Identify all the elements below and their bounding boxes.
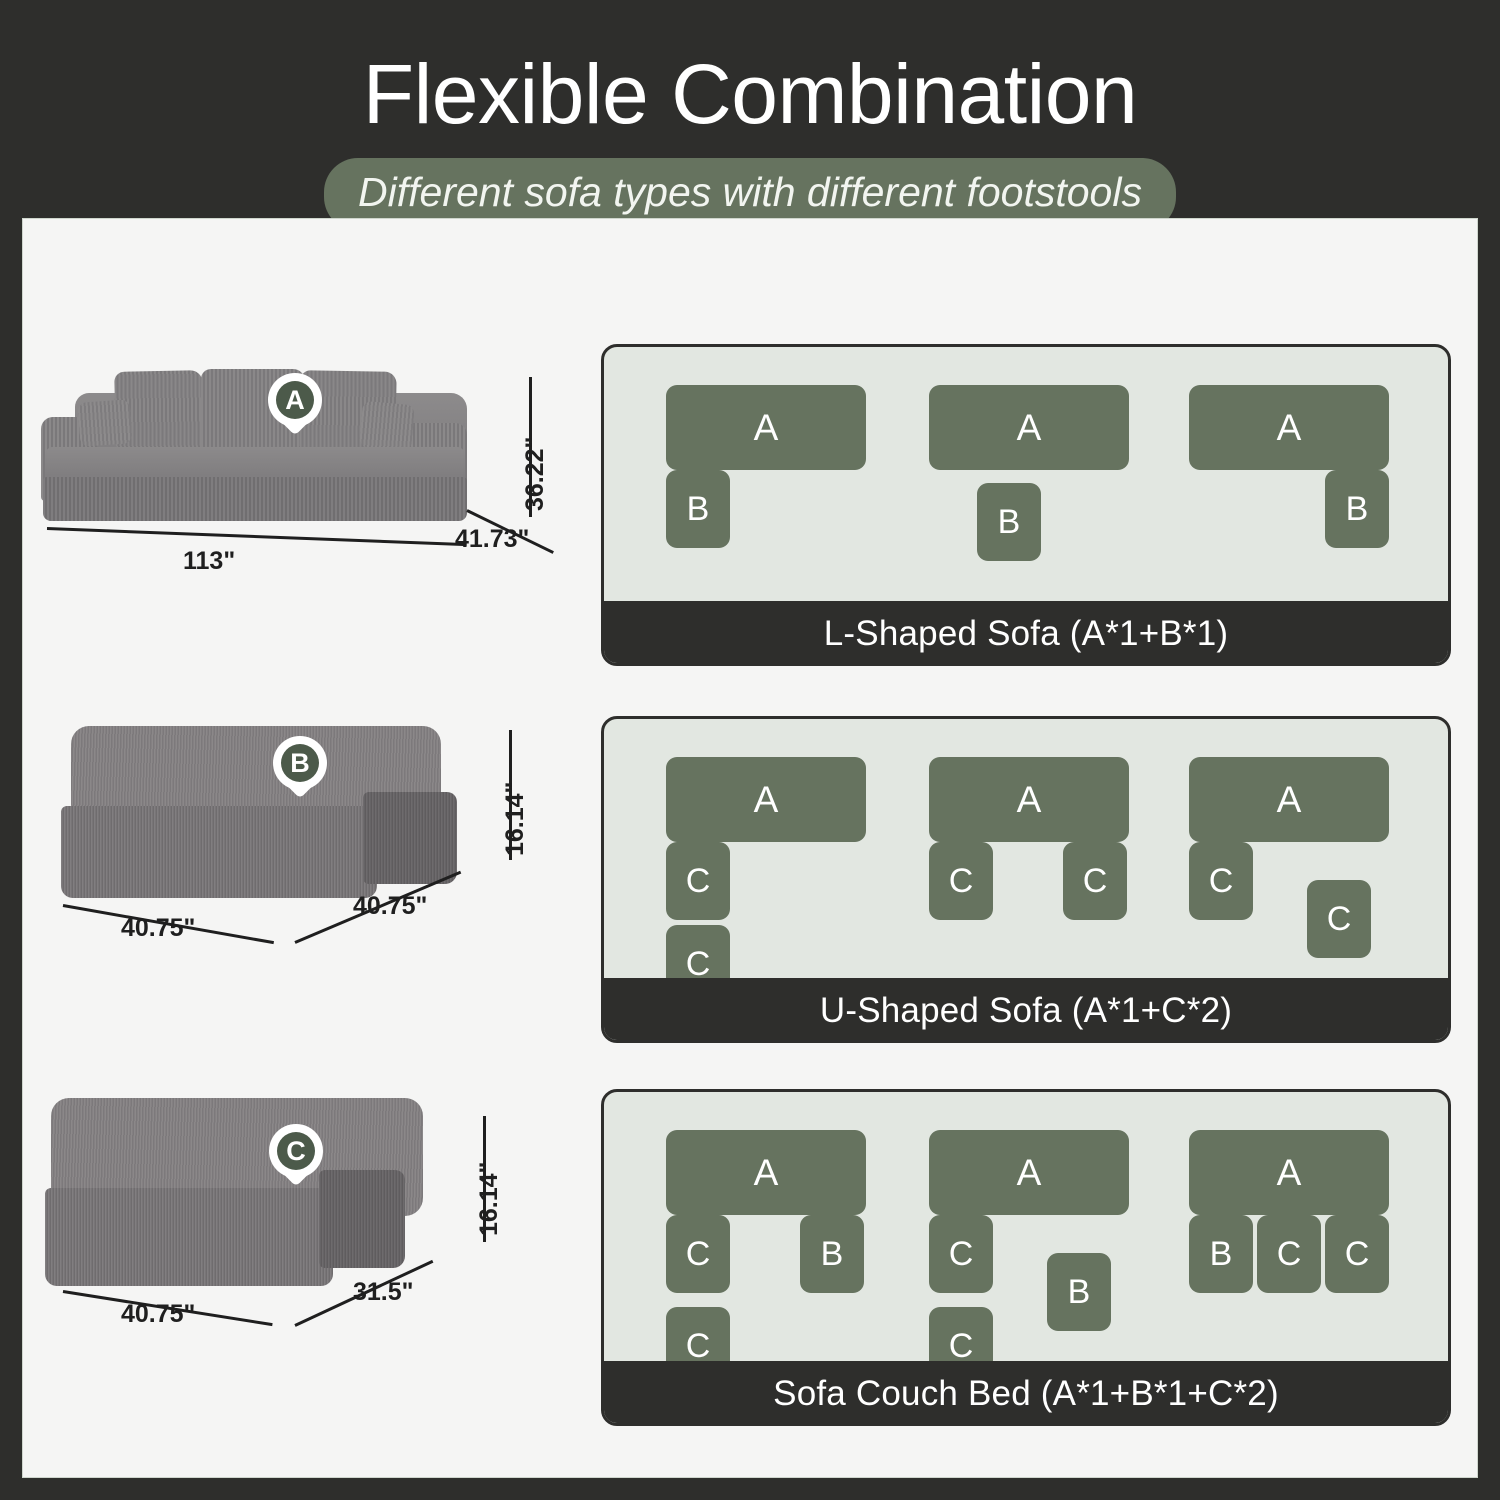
product-illustration-column: A 113" 41.73" 36.22" [23,219,601,1479]
content-card: A 113" 41.73" 36.22" [22,218,1478,1478]
block-c: C [666,1215,730,1293]
config-1: AB [666,347,936,601]
block-b: B [666,470,730,548]
sofa-throw-pillow-left [78,399,133,447]
config-2: ACCB [929,1092,1199,1361]
marker-pin-b: B [273,736,327,806]
panel-label-u-shaped: U-Shaped Sofa (A*1+C*2) [601,978,1451,1043]
panel-sofa-couch-bed: ACCB ACCB ABCC Sofa Couch Bed (A*1+B*1+C… [601,1089,1451,1426]
panel-body: ACCB ACCB ABCC [604,1092,1448,1361]
block-a: A [929,1130,1129,1215]
block-a: A [666,1130,866,1215]
block-b: B [1047,1253,1111,1331]
dim-label-depth-b: 40.75" [353,892,427,921]
product-footstool-c: C 40.75" 31.5" 16.14" [23,1084,601,1334]
footstool-c-side [319,1170,405,1268]
panel-label-l-shaped: L-Shaped Sofa (A*1+B*1) [601,601,1451,666]
block-b: B [977,483,1041,561]
block-c: C [929,842,993,920]
pin-letter-c: C [277,1132,315,1170]
config-3: AB [1189,347,1451,601]
footstool-b-side [363,792,457,884]
dim-label-depth-c: 31.5" [353,1278,414,1307]
footstool-c-illustration: C 40.75" 31.5" 16.14" [23,1084,601,1334]
subtitle-text: Different sofa types with different foot… [358,169,1142,216]
panel-body: AB AB AB [604,347,1448,601]
dim-label-height-b: 16.14" [501,782,530,856]
config-1: ACC [666,719,936,978]
pin-letter-b: B [281,744,319,782]
panel-u-shaped-sofa: ACC ACC ACC U-Shaped Sofa (A*1+C*2) [601,716,1451,1043]
marker-pin-a: A [268,373,322,443]
sofa-throw-pillow-right [359,401,415,451]
infographic-root: Flexible Combination Different sofa type… [0,0,1500,1500]
footstool-c-front [45,1188,333,1286]
product-sofa-a: A 113" 41.73" 36.22" [23,359,601,599]
block-c: C [1189,842,1253,920]
block-a: A [666,757,866,842]
block-b: B [800,1215,864,1293]
dim-label-height-c: 16.14" [475,1162,504,1236]
header: Flexible Combination Different sofa type… [0,0,1500,218]
config-2: AB [929,347,1199,601]
block-b: B [1189,1215,1253,1293]
block-c: C [1063,842,1127,920]
dim-label-width-c: 40.75" [121,1300,195,1329]
product-footstool-b: B 40.75" 40.75" 16.14" [23,714,601,964]
block-c: C [929,1215,993,1293]
dim-label-width-a: 113" [183,547,235,576]
block-c: C [1307,880,1371,958]
page-title: Flexible Combination [363,52,1137,136]
dim-label-height-a: 36.22" [521,437,550,511]
config-1: ACCB [666,1092,936,1361]
panel-l-shaped-sofa: AB AB AB L-Shaped Sofa (A*1+B*1) [601,344,1451,666]
sofa-base [43,477,467,521]
block-a: A [666,385,866,470]
block-c: C [666,842,730,920]
combination-panels-column: AB AB AB L-Shaped Sofa (A*1+B*1) ACC ACC… [601,219,1479,1479]
block-a: A [1189,385,1389,470]
footstool-b-illustration: B 40.75" 40.75" 16.14" [23,714,601,964]
block-c: C [1257,1215,1321,1293]
pin-letter-a: A [276,381,314,419]
config-3: ACC [1189,719,1451,978]
block-b: B [1325,470,1389,548]
panel-body: ACC ACC ACC [604,719,1448,978]
footstool-b-front [61,806,377,898]
block-a: A [1189,1130,1389,1215]
block-a: A [1189,757,1389,842]
marker-pin-c: C [269,1124,323,1194]
config-3: ABCC [1189,1092,1451,1361]
sofa-a-illustration: A 113" 41.73" 36.22" [23,359,601,599]
panel-label-sofa-couch-bed: Sofa Couch Bed (A*1+B*1+C*2) [601,1361,1451,1426]
block-c: C [1325,1215,1389,1293]
config-2: ACC [929,719,1199,978]
dim-label-depth-a: 41.73" [455,525,529,554]
block-a: A [929,757,1129,842]
block-a: A [929,385,1129,470]
dim-line-width-a [47,527,467,546]
dim-label-width-b: 40.75" [121,914,195,943]
